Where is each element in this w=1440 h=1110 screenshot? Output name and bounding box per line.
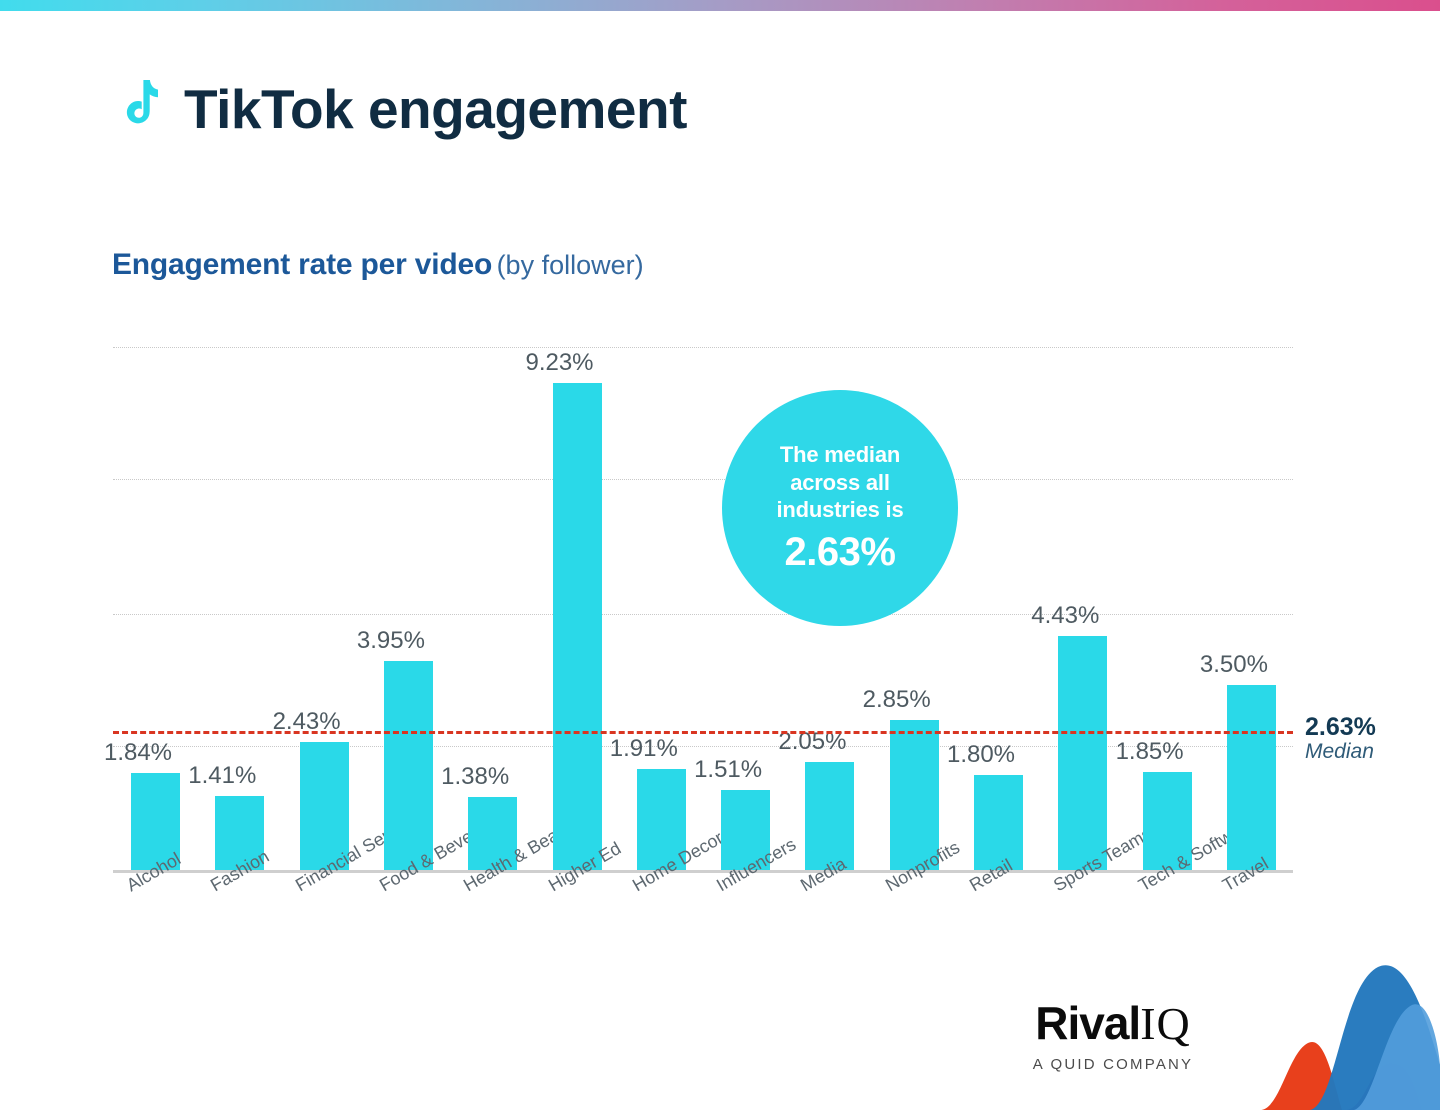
bar-series: 1.84%Alcohol1.41%Fashion2.43%Financial S… [113,330,1293,870]
median-bubble-line-2: across all [790,469,890,497]
median-reference-line [113,731,1293,734]
median-annotation-label: Median [1305,740,1376,764]
bar[interactable] [805,762,854,870]
bar[interactable] [890,720,939,870]
bar[interactable] [553,383,602,870]
bar-value-label: 4.43% [1022,602,1108,630]
x-axis-line [113,870,1293,873]
logo-wordmark: RivalIQ [993,1000,1233,1047]
bar-group[interactable]: 1.38%Health & Beauty [450,330,534,870]
bar-value-label: 3.95% [348,627,434,655]
bar[interactable] [1058,636,1107,870]
bar[interactable] [384,661,433,870]
bar-value-label: 1.38% [432,763,518,791]
bar-value-label: 9.23% [517,349,603,377]
bar-group[interactable]: 1.41%Fashion [197,330,281,870]
plot-area: 1.84%Alcohol1.41%Fashion2.43%Financial S… [113,330,1293,875]
bar-value-label: 1.51% [685,756,771,784]
bar-value-label: 1.85% [1107,738,1193,766]
logo-name-bold: Rival [1035,997,1140,1049]
logo-tagline: A QUID COMPANY [993,1056,1233,1073]
bar-value-label: 1.84% [95,739,181,767]
bar-group[interactable]: 1.80%Retail [956,330,1040,870]
decorative-curves-graphic [1250,945,1440,1110]
median-bubble-line-1: The median [780,441,900,469]
median-bubble-line-3: industries is [777,496,904,524]
median-bubble: The median across all industries is 2.63… [722,390,958,626]
bar-group[interactable]: 2.43%Financial Services [282,330,366,870]
median-bubble-value: 2.63% [785,530,896,575]
bar-group[interactable]: 4.43%Sports Teams [1040,330,1124,870]
bar[interactable] [1227,685,1276,870]
bar-group[interactable]: 3.50%Travel [1209,330,1293,870]
rival-iq-logo: RivalIQ A QUID COMPANY [993,1000,1233,1073]
bar-value-label: 1.41% [179,762,265,790]
bar-group[interactable]: 1.91%Home Decor [619,330,703,870]
bar[interactable] [974,775,1023,870]
logo-name-light: IQ [1140,998,1191,1049]
bar-group[interactable]: 1.85%Tech & Software [1125,330,1209,870]
median-annotation: 2.63% Median [1305,714,1376,764]
bar-value-label: 1.80% [938,741,1024,769]
bar-value-label: 3.50% [1191,651,1277,679]
bar-chart: 1.84%Alcohol1.41%Fashion2.43%Financial S… [0,0,1440,1110]
infographic-page: TikTok engagement Engagement rate per vi… [0,0,1440,1110]
bar-group[interactable]: 9.23%Higher Ed [535,330,619,870]
bar-value-label: 1.91% [601,735,687,763]
median-annotation-value: 2.63% [1305,714,1376,740]
bar-value-label: 2.85% [854,686,940,714]
